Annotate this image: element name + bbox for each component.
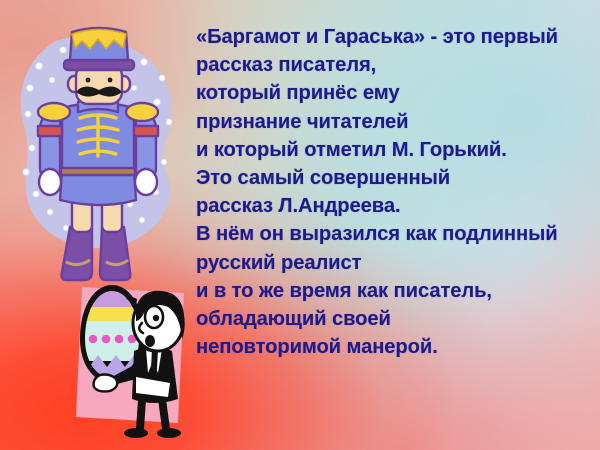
- hat-brim: [64, 60, 134, 70]
- text-line-8: В нём он выразился как подлинный: [196, 220, 600, 248]
- text-line-12: неповторимой манерой.: [196, 333, 600, 361]
- cuff-right: [134, 126, 158, 136]
- hand: [94, 375, 118, 392]
- text-line-4: признание читателей: [196, 108, 600, 136]
- slide-text-body: «Баргамот и Гараська» - это первый расск…: [196, 23, 600, 361]
- text-line-10: и в то же время как писатель,: [196, 277, 600, 305]
- pupil: [153, 315, 159, 321]
- shoe-right: [157, 428, 181, 438]
- text-line-11: обладающий своей: [196, 305, 600, 333]
- shoe-left: [124, 428, 148, 438]
- eye-right: [108, 78, 113, 83]
- epaulette-right: [126, 103, 158, 121]
- text-line-7: рассказ Л.Андреева.: [196, 192, 600, 220]
- cuff-left: [38, 126, 62, 136]
- presentation-slide: «Баргамот и Гараська» - это первый расск…: [0, 0, 600, 450]
- text-line-2: рассказ писателя,: [196, 51, 600, 79]
- nutcracker-illustration: [6, 22, 196, 312]
- epaulette-left: [38, 103, 70, 121]
- text-line-3: который принёс ему: [196, 79, 600, 107]
- jacket-skirt: [60, 172, 136, 205]
- text-line-5: и который отметил М. Горький.: [196, 136, 600, 164]
- boot-right: [100, 227, 130, 280]
- glove-left: [39, 169, 61, 195]
- text-line-6: Это самый совершенный: [196, 164, 600, 192]
- text-line-1: «Баргамот и Гараська» - это первый: [196, 23, 600, 51]
- text-line-9: русский реалист: [196, 249, 600, 277]
- glove-right: [135, 169, 157, 195]
- eye-left: [86, 78, 91, 83]
- mouth: [145, 335, 155, 347]
